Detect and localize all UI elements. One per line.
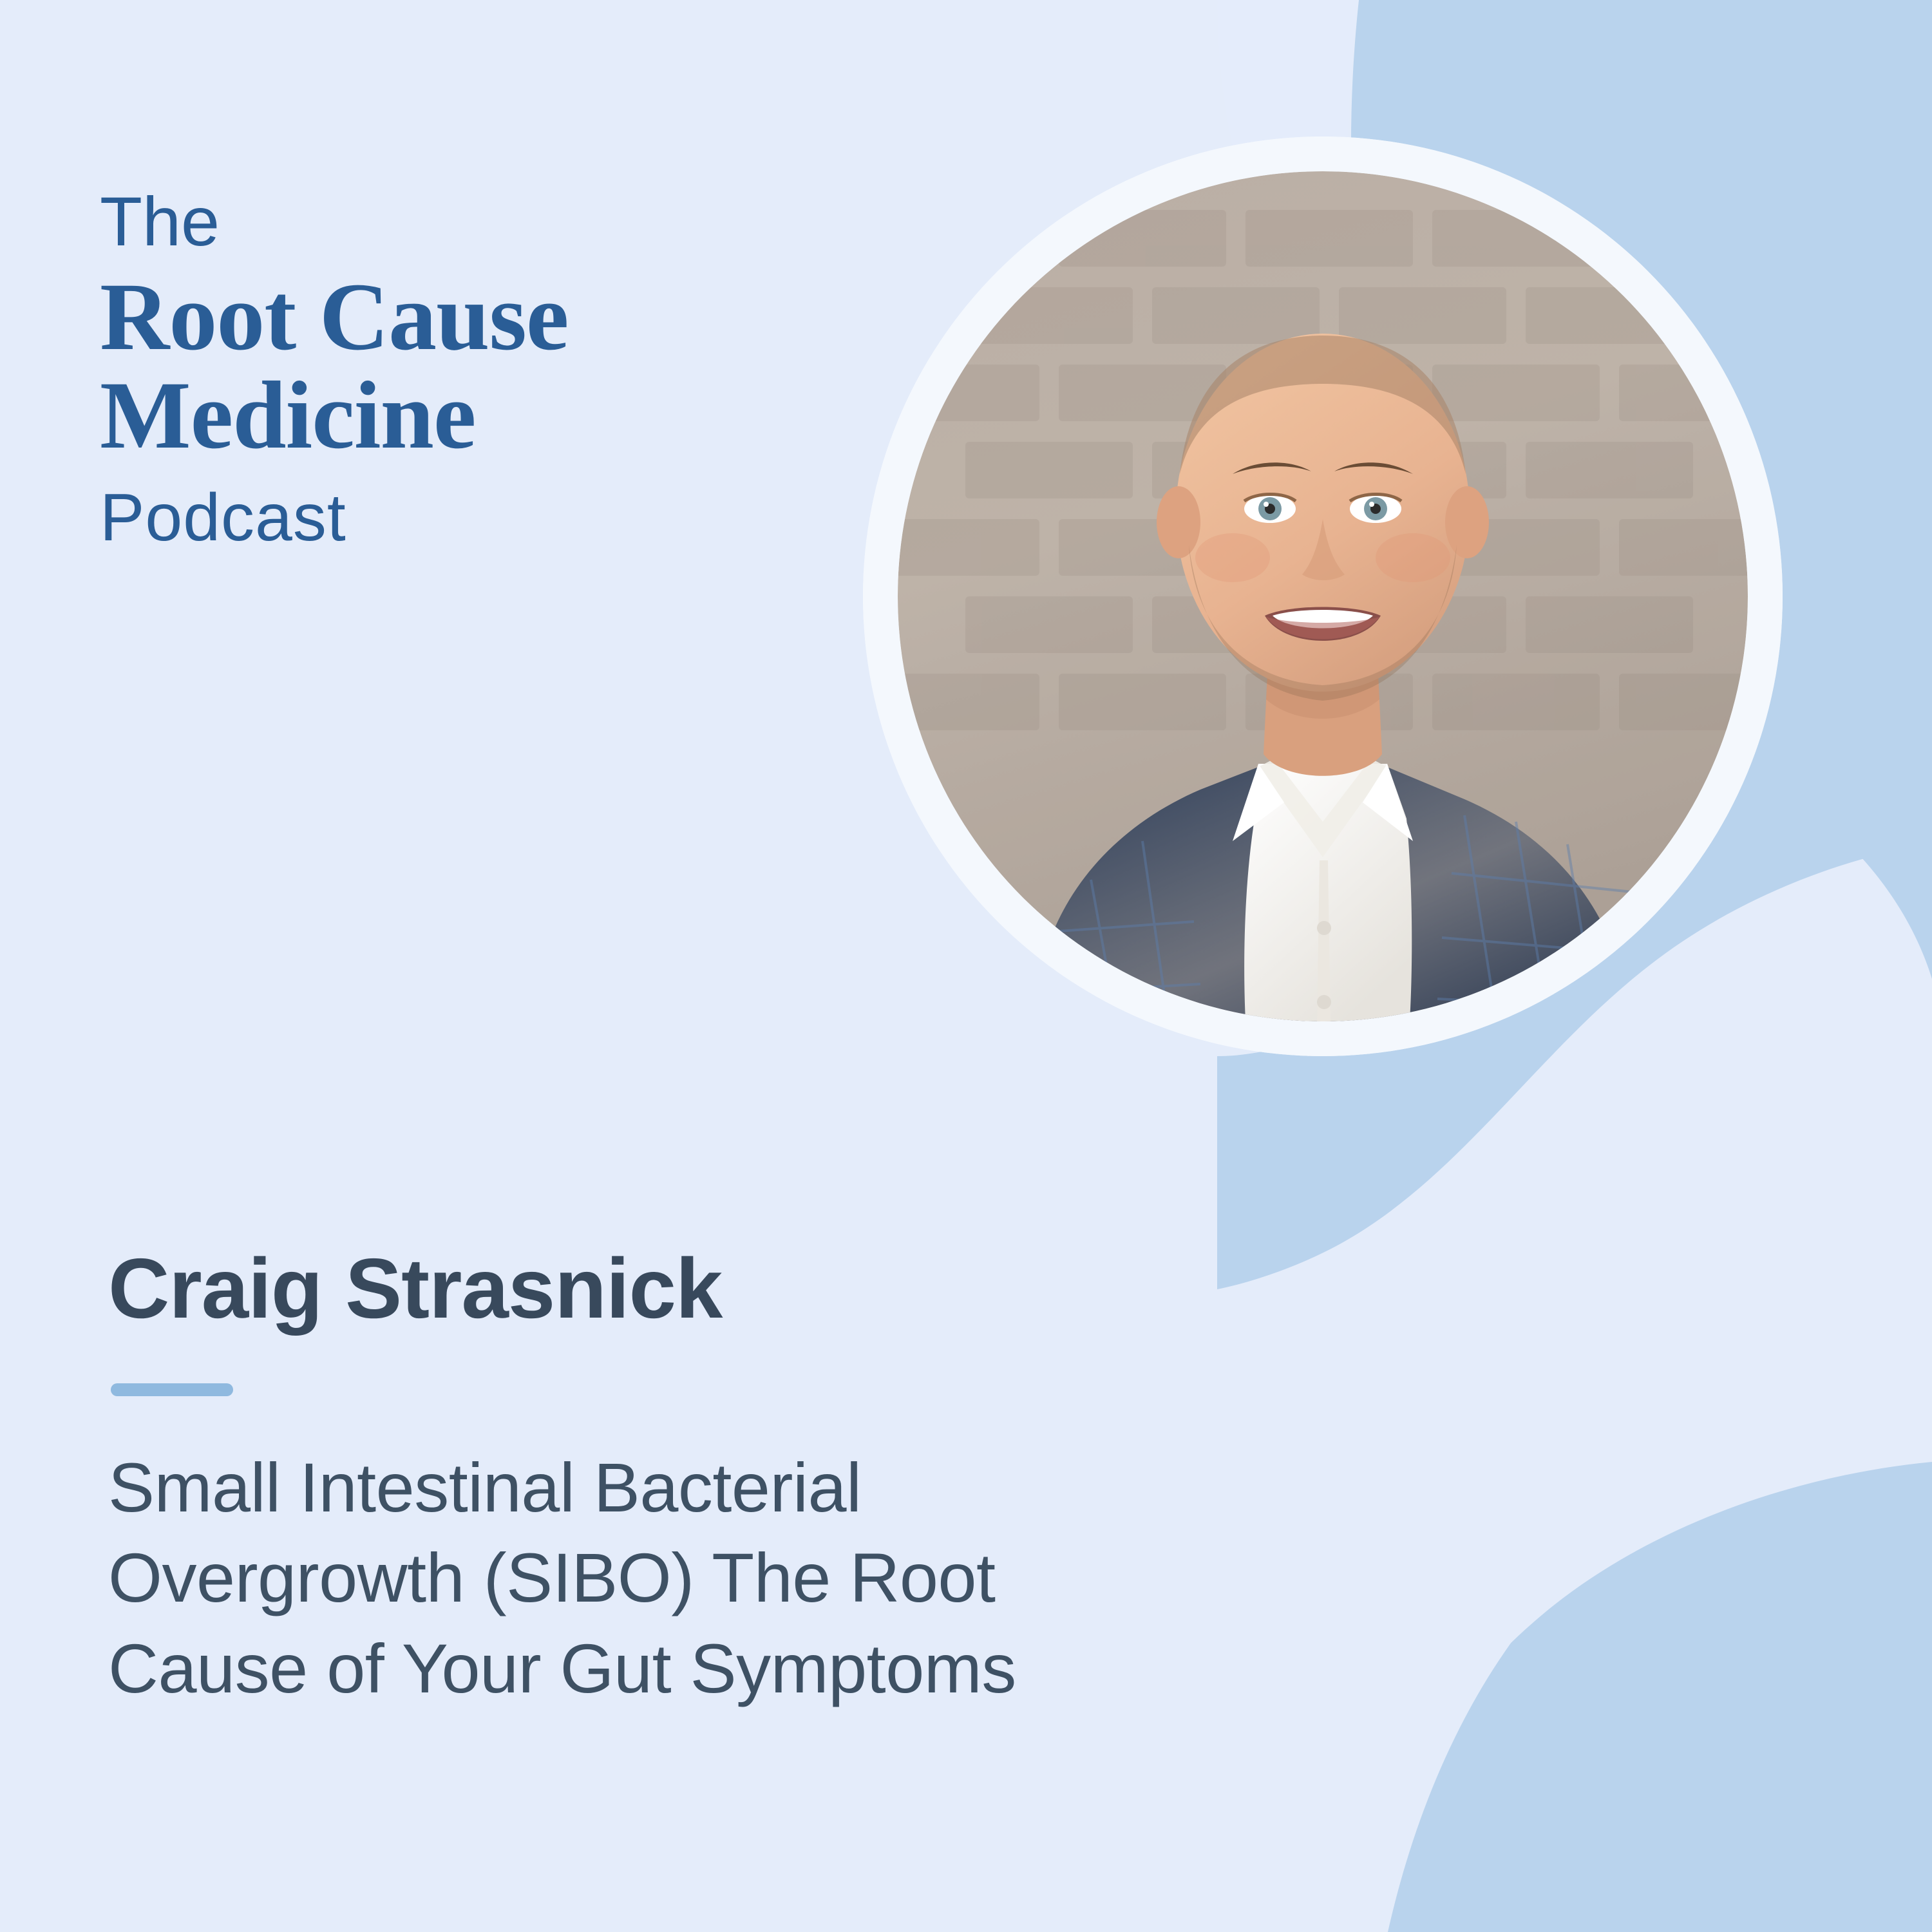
logo-line-medicine: Medicine bbox=[100, 366, 808, 465]
episode-title: Small Intestinal Bacterial Overgrowth (S… bbox=[108, 1443, 1242, 1714]
episode-title-line-2: Overgrowth (SIBO) The Root bbox=[108, 1533, 1242, 1623]
episode-title-line-1: Small Intestinal Bacterial bbox=[108, 1443, 1242, 1533]
podcast-cover-artwork: The Root Cause Medicine Podcast bbox=[0, 0, 1932, 1932]
accent-divider bbox=[111, 1383, 233, 1396]
episode-title-line-3: Cause of Your Gut Symptoms bbox=[108, 1624, 1242, 1714]
podcast-logo: The Root Cause Medicine Podcast bbox=[100, 187, 808, 551]
logo-line-podcast: Podcast bbox=[100, 484, 808, 551]
guest-portrait-frame bbox=[863, 137, 1783, 1056]
headshot-illustration bbox=[898, 171, 1748, 1021]
logo-line-root-cause: Root Cause bbox=[100, 268, 808, 366]
logo-line-the: The bbox=[100, 187, 808, 256]
guest-headshot-photo bbox=[898, 171, 1748, 1021]
guest-name: Craig Strasnick bbox=[108, 1243, 722, 1335]
